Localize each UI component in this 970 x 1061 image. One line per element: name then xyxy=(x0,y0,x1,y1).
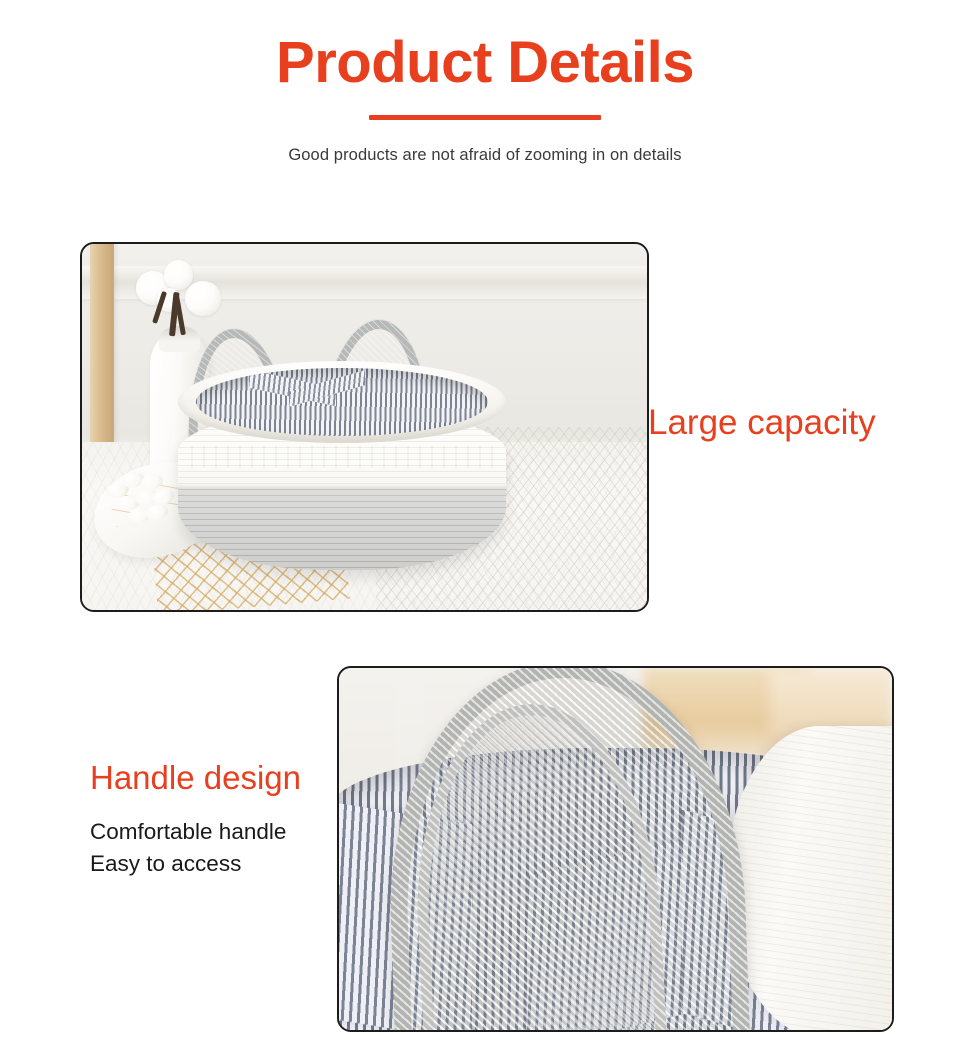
callout-handle-design-lines: Comfortable handle Easy to access xyxy=(90,816,330,880)
callout-large-capacity: Large capacity xyxy=(648,403,876,443)
page-title: Product Details xyxy=(0,0,970,94)
callout-handle-design: Handle design Comfortable handle Easy to… xyxy=(90,760,330,880)
page-subtitle: Good products are not afraid of zooming … xyxy=(0,146,970,165)
cotton-boll xyxy=(164,260,193,289)
callout-handle-design-title: Handle design xyxy=(90,760,330,796)
product-photo-basket-full xyxy=(80,242,649,612)
page-header: Product Details Good products are not af… xyxy=(0,0,970,165)
rope-basket xyxy=(178,343,506,570)
callout-line-easy-to-access: Easy to access xyxy=(90,848,330,880)
photo-scene-handle xyxy=(339,668,892,1030)
cotton-boll xyxy=(185,281,221,317)
title-accent-bar xyxy=(369,115,601,120)
photo-scene-basket xyxy=(82,244,647,610)
callout-line-comfortable-handle: Comfortable handle xyxy=(90,816,330,848)
striped-liner xyxy=(196,368,488,436)
braid-band xyxy=(191,446,492,468)
product-photo-handle-closeup xyxy=(337,666,894,1032)
